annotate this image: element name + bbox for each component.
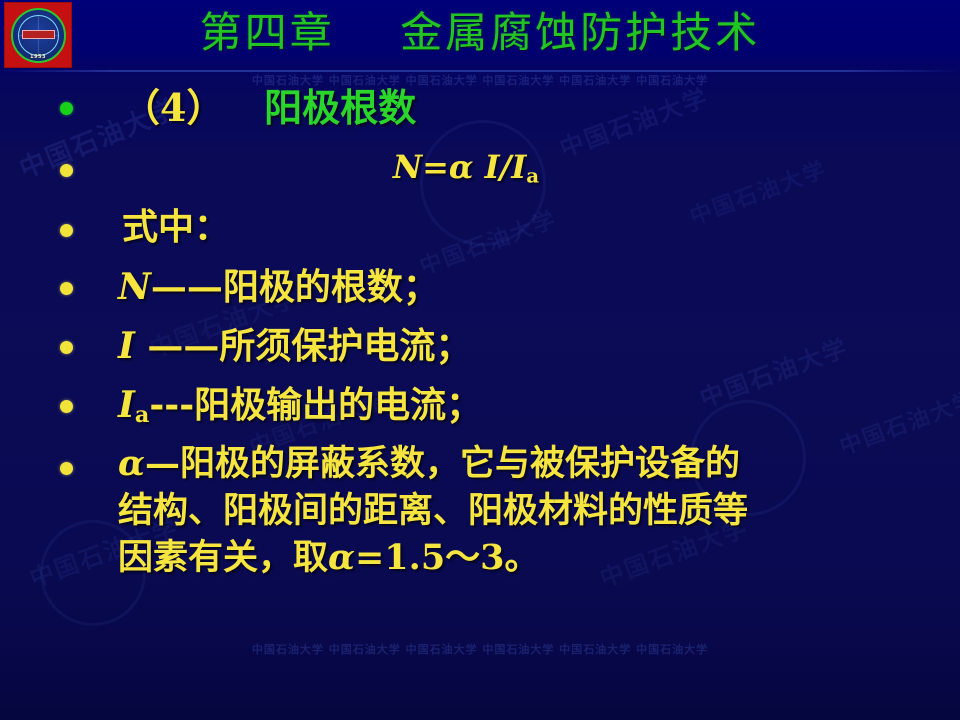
where-label: 式中： — [122, 200, 230, 254]
bullet-icon — [60, 400, 73, 413]
list-item: Ia---阳极输出的电流； — [0, 378, 960, 440]
slide-canvas: 中国石油大学 中国石油大学 中国石油大学 中国石油大学 中国石油大学 中国石油大… — [0, 0, 960, 720]
definition-Ia: Ia---阳极输出的电流； — [118, 378, 482, 442]
definition-alpha-line3-post: =1.5～3。 — [355, 537, 540, 578]
list-item: I ——所须保护电流； — [0, 319, 960, 378]
definition-I: I ——所须保护电流； — [118, 319, 471, 373]
list-item: 式中： — [0, 200, 960, 260]
definition-alpha-line3-symbol: α — [328, 537, 355, 578]
symbol-alpha: α — [118, 443, 145, 484]
definition-alpha-line1: —阳极的屏蔽系数，它与被保护设备的 — [145, 443, 740, 484]
definition-Ia-text: ---阳极输出的电流； — [149, 384, 482, 426]
symbol-Ia: I — [118, 384, 135, 426]
definition-N: N——阳极的根数； — [118, 260, 439, 314]
list-item: N=α I/Ia — [0, 142, 960, 200]
footer-bar: 上页 下页 返回 回主目录 2020/6/30 185 — [0, 668, 960, 720]
bullet-icon — [60, 282, 73, 295]
list-item: α—阳极的屏蔽系数，它与被保护设备的结构、阳极间的距离、阳极材料的性质等因素有关… — [0, 440, 960, 590]
list-item: N——阳极的根数； — [0, 260, 960, 319]
definition-alpha-line2: 结构、阳极间的距离、阳极材料的性质等 — [118, 490, 748, 531]
definition-I-text: ——所须保护电流； — [135, 325, 472, 367]
heading-label: 阳极根数 — [224, 85, 416, 130]
formula-anode-count: N=α I/Ia — [56, 142, 876, 200]
symbol-N: N — [118, 266, 151, 308]
symbol-I: I — [118, 325, 135, 367]
definition-N-text: ——阳极的根数； — [151, 266, 439, 308]
symbol-Ia-subscript: a — [135, 402, 149, 428]
definition-alpha-line3-pre: 因素有关，取 — [118, 537, 328, 578]
formula-main: N=α I/I — [393, 148, 526, 186]
definition-alpha: α—阳极的屏蔽系数，它与被保护设备的结构、阳极间的距离、阳极材料的性质等因素有关… — [118, 440, 748, 581]
list-item: （4） 阳极根数 — [0, 82, 960, 142]
footer-watermark-band: 中国石油大学 中国石油大学 中国石油大学 中国石油大学 中国石油大学 中国石油大… — [0, 641, 960, 657]
bullet-green-icon — [60, 102, 73, 115]
bullet-icon — [60, 341, 73, 354]
page-title: 第四章 金属腐蚀防护技术 — [0, 6, 960, 60]
heading-number: （4） — [122, 85, 224, 130]
slide-content: （4） 阳极根数 N=α I/Ia 式中： N——阳极的根数； I ——所须保护… — [0, 82, 960, 590]
heading-anode-count: （4） 阳极根数 — [122, 82, 416, 134]
bullet-icon — [60, 462, 73, 475]
formula-subscript: a — [526, 163, 539, 187]
bullet-icon — [60, 164, 73, 177]
header-divider — [0, 70, 960, 72]
bullet-icon — [60, 224, 73, 237]
